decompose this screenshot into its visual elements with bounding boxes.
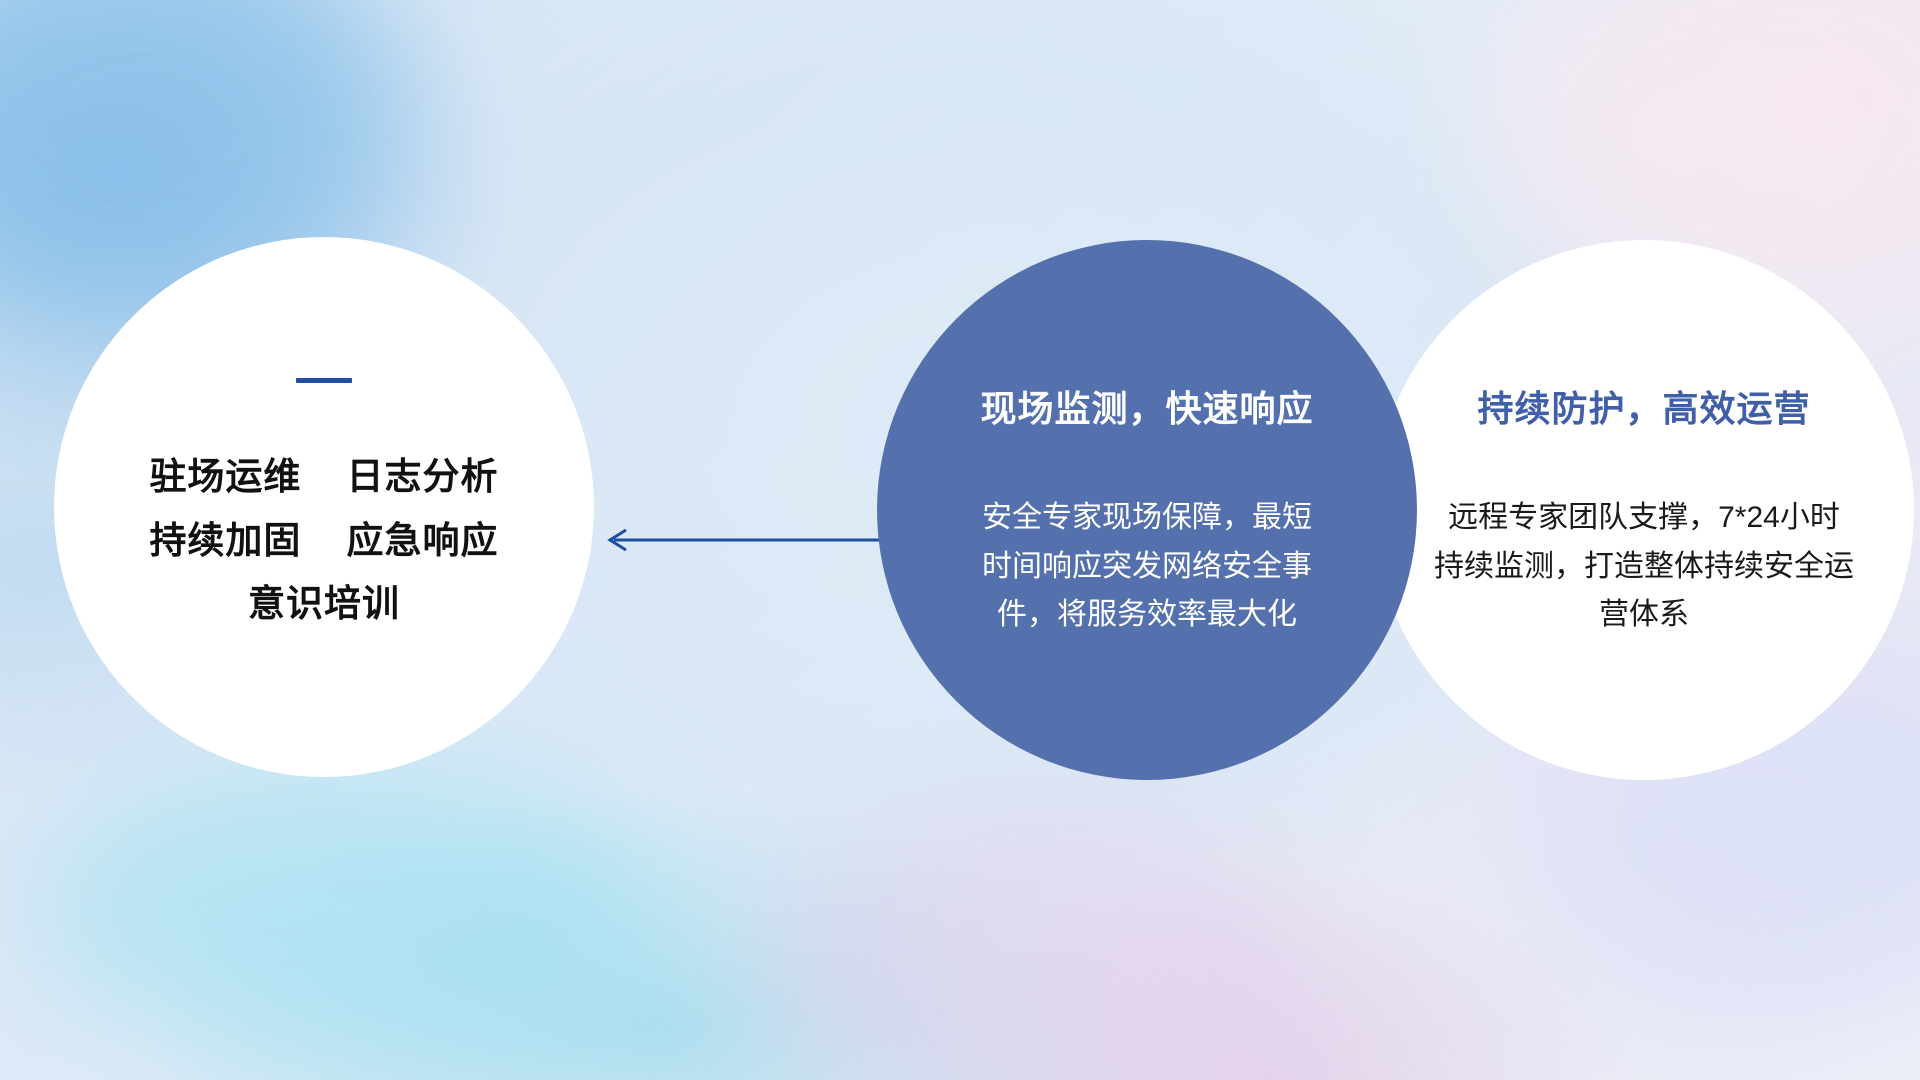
background-bloom-bottom-left [40,760,660,1060]
right-circle-body: 远程专家团队支撑，7*24小时持续监测，打造整体持续安全运营体系 [1434,494,1854,640]
left-capability-circle[interactable]: 驻场运维 日志分析 持续加固 应急响应 意识培训 [54,237,594,777]
left-circle-line-2: 持续加固 应急响应 [149,509,498,573]
connector-arrow [600,520,900,560]
middle-circle-title: 现场监测，快速响应 [980,380,1313,432]
middle-service-circle[interactable]: 现场监测，快速响应 安全专家现场保障，最短时间响应突发网络安全事件，将服务效率最… [877,240,1417,780]
right-service-circle[interactable]: 持续防护，高效运营 远程专家团队支撑，7*24小时持续监测，打造整体持续安全运营… [1374,240,1914,780]
left-circle-line-1: 驻场运维 日志分析 [149,445,498,509]
left-circle-text-block: 驻场运维 日志分析 持续加固 应急响应 意识培训 [149,445,498,636]
middle-circle-body: 安全专家现场保障，最短时间响应突发网络安全事件，将服务效率最大化 [977,494,1317,640]
background-bloom-bottom-middle [760,820,1320,1080]
slide-canvas: 驻场运维 日志分析 持续加固 应急响应 意识培训 持续防护，高效运营 远程专家团… [0,0,1920,1080]
left-circle-line-3: 意识培训 [149,572,498,636]
accent-dash-icon [296,378,352,383]
right-circle-title: 持续防护，高效运营 [1477,380,1810,432]
